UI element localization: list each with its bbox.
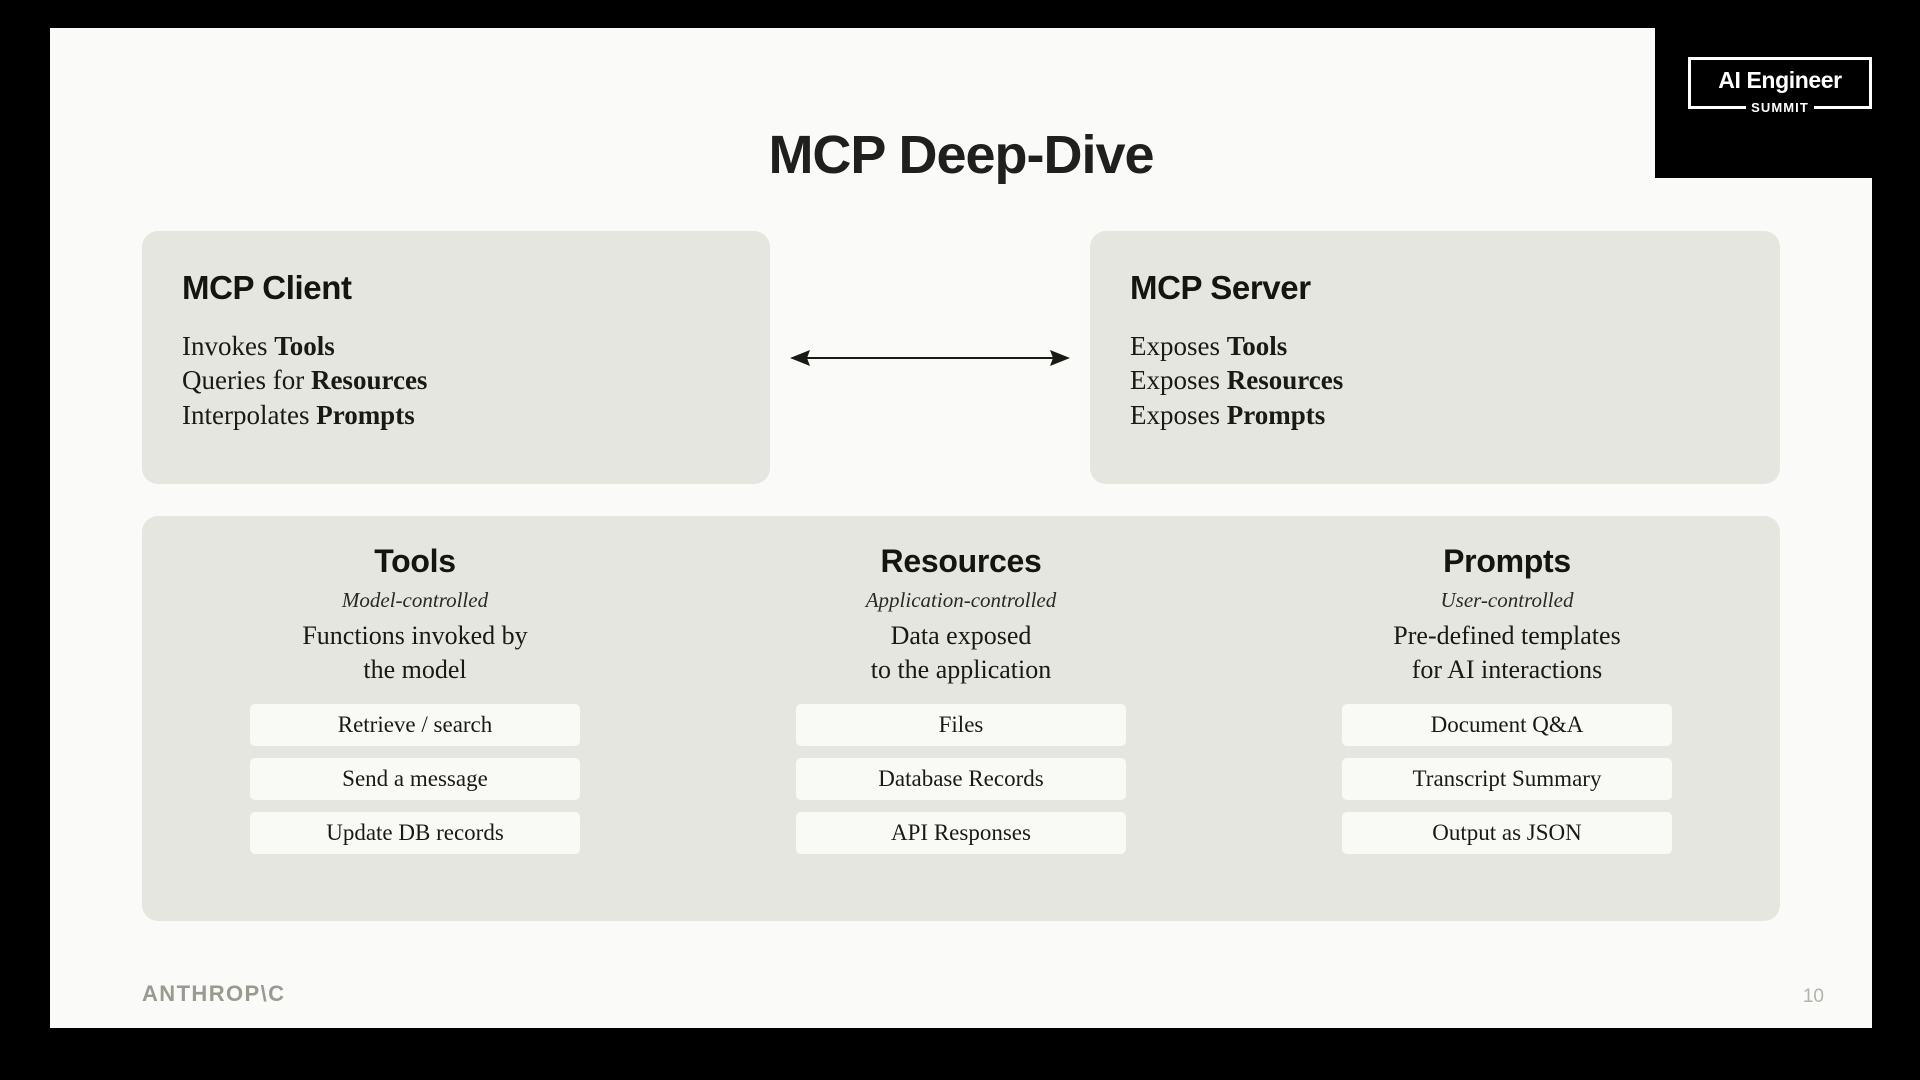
mcp-server-line-3: Exposes Prompts <box>1130 398 1740 432</box>
column-prompts-chips: Document Q&A Transcript Summary Output a… <box>1234 704 1780 854</box>
mcp-server-line-3-strong: Prompts <box>1227 400 1326 430</box>
column-tools: Tools Model-controlled Functions invoked… <box>142 516 688 921</box>
column-resources-description: Data exposed to the application <box>871 619 1052 687</box>
mcp-server-line-3-prefix: Exposes <box>1130 400 1227 430</box>
column-tools-heading: Tools <box>374 543 455 580</box>
mcp-client-line-1: Invokes Tools <box>182 329 730 363</box>
chip-item[interactable]: Files <box>796 704 1126 746</box>
chip-item[interactable]: Output as JSON <box>1342 812 1672 854</box>
column-prompts-heading: Prompts <box>1443 543 1571 580</box>
primitives-panel: Tools Model-controlled Functions invoked… <box>142 516 1780 921</box>
column-prompts-description: Pre-defined templates for AI interaction… <box>1393 619 1620 687</box>
mcp-server-heading: MCP Server <box>1130 269 1740 307</box>
column-prompts-kind: User-controlled <box>1441 588 1574 613</box>
slide-canvas: MCP Deep-Dive MCP Client Invokes Tools Q… <box>50 28 1872 1028</box>
conference-logo-block: AI Engineer SUMMIT <box>1655 0 1920 178</box>
logo-rule-right <box>1821 106 1872 109</box>
mcp-client-line-2-prefix: Queries for <box>182 365 311 395</box>
mcp-client-line-1-strong: Tools <box>274 331 335 361</box>
chip-item[interactable]: API Responses <box>796 812 1126 854</box>
logo-rule-left <box>1688 106 1739 109</box>
column-tools-chips: Retrieve / search Send a message Update … <box>142 704 688 854</box>
mcp-server-line-1-prefix: Exposes <box>1130 331 1227 361</box>
page-number: 10 <box>1803 986 1824 1008</box>
page-title: MCP Deep-Dive <box>50 124 1872 186</box>
double-arrow-icon <box>790 346 1070 370</box>
mcp-server-line-1-strong: Tools <box>1227 331 1288 361</box>
column-resources: Resources Application-controlled Data ex… <box>688 516 1234 921</box>
mcp-client-line-3-strong: Prompts <box>316 400 415 430</box>
mcp-client-heading: MCP Client <box>182 269 730 307</box>
chip-item[interactable]: Database Records <box>796 758 1126 800</box>
conference-logo-title: AI Engineer <box>1691 69 1869 92</box>
mcp-client-line-3: Interpolates Prompts <box>182 398 730 432</box>
primitives-columns: Tools Model-controlled Functions invoked… <box>142 516 1780 921</box>
mcp-client-line-3-prefix: Interpolates <box>182 400 316 430</box>
mcp-server-card: MCP Server Exposes Tools Exposes Resourc… <box>1090 231 1780 484</box>
anthropic-wordmark: ANTHROP\C <box>142 981 285 1007</box>
mcp-client-card: MCP Client Invokes Tools Queries for Res… <box>142 231 770 484</box>
conference-logo-subtitle: SUMMIT <box>1746 101 1814 114</box>
mcp-client-line-2-strong: Resources <box>311 365 427 395</box>
mcp-client-line-1-prefix: Invokes <box>182 331 274 361</box>
mcp-client-line-2: Queries for Resources <box>182 363 730 397</box>
mcp-server-line-2: Exposes Resources <box>1130 363 1740 397</box>
chip-item[interactable]: Document Q&A <box>1342 704 1672 746</box>
slide-stage: MCP Deep-Dive MCP Client Invokes Tools Q… <box>0 0 1920 1080</box>
chip-item[interactable]: Update DB records <box>250 812 580 854</box>
client-server-connector <box>790 346 1070 370</box>
column-tools-description: Functions invoked by the model <box>302 619 527 687</box>
mcp-server-line-2-strong: Resources <box>1227 365 1343 395</box>
chip-item[interactable]: Retrieve / search <box>250 704 580 746</box>
mcp-server-line-2-prefix: Exposes <box>1130 365 1227 395</box>
column-tools-kind: Model-controlled <box>342 588 488 613</box>
chip-item[interactable]: Transcript Summary <box>1342 758 1672 800</box>
column-resources-chips: Files Database Records API Responses <box>688 704 1234 854</box>
column-resources-kind: Application-controlled <box>866 588 1057 613</box>
mcp-server-line-1: Exposes Tools <box>1130 329 1740 363</box>
conference-logo-subtitle-row: SUMMIT <box>1688 96 1872 118</box>
column-resources-heading: Resources <box>881 543 1042 580</box>
column-prompts: Prompts User-controlled Pre-defined temp… <box>1234 516 1780 921</box>
chip-item[interactable]: Send a message <box>250 758 580 800</box>
